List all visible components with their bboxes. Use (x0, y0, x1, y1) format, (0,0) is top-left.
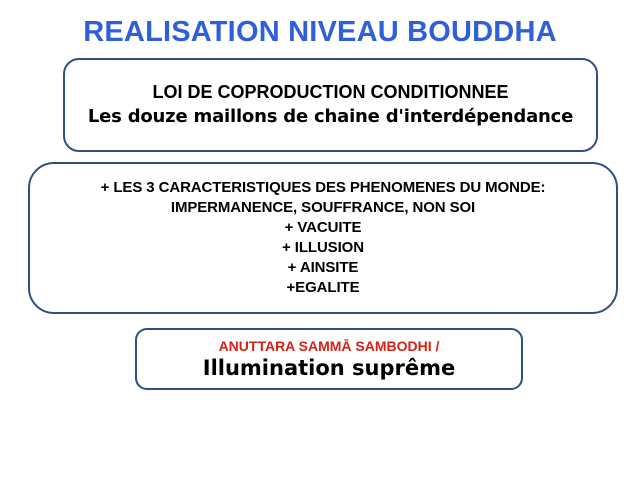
page-title: REALISATION NIVEAU BOUDDHA (0, 16, 640, 49)
box-coproduction-line-2: Les douze maillons de chaine d'interdépe… (88, 104, 573, 130)
box-illumination: ANUTTARA SAMMĀ SAMBODHI / Illumination s… (135, 328, 523, 390)
box-caracteristiques-line-4: + ILLUSION (282, 238, 364, 258)
box-illumination-line-1: ANUTTARA SAMMĀ SAMBODHI / (219, 337, 440, 356)
box-caracteristiques-line-5: + AINSITE (288, 258, 359, 278)
box-caracteristiques: + LES 3 CARACTERISTIQUES DES PHENOMENES … (28, 162, 618, 314)
slide-canvas: REALISATION NIVEAU BOUDDHA LOI DE COPROD… (0, 0, 640, 480)
box-caracteristiques-line-3: + VACUITE (285, 218, 362, 238)
box-caracteristiques-line-2: IMPERMANENCE, SOUFFRANCE, NON SOI (171, 198, 475, 218)
box-coproduction-line-1: LOI DE COPRODUCTION CONDITIONNEE (152, 80, 508, 104)
box-coproduction: LOI DE COPRODUCTION CONDITIONNEE Les dou… (63, 58, 598, 152)
box-illumination-line-2: Illumination suprême (203, 356, 456, 381)
box-caracteristiques-line-1: + LES 3 CARACTERISTIQUES DES PHENOMENES … (101, 178, 546, 198)
box-caracteristiques-line-6: +EGALITE (287, 278, 360, 298)
